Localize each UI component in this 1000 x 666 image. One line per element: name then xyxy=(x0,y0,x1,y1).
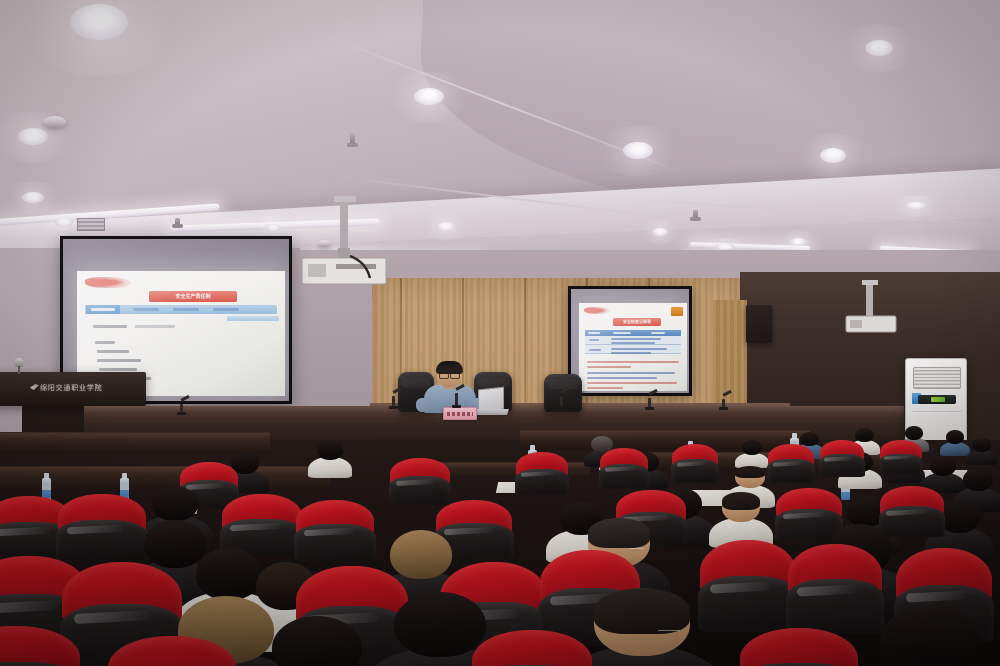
table-cell-text xyxy=(611,342,655,344)
attendee xyxy=(272,616,362,666)
slide-nav-label xyxy=(173,308,199,311)
table-cell-text xyxy=(589,349,601,351)
projection-screen-right[interactable]: 安全检查记录表 xyxy=(568,286,692,396)
name-placard xyxy=(443,407,477,420)
attendee xyxy=(880,606,980,666)
company-logo xyxy=(85,277,131,288)
slide-body-line xyxy=(93,325,127,328)
slide-note-line xyxy=(587,366,631,368)
desk-microphone xyxy=(455,393,458,406)
wall-speaker xyxy=(746,305,772,343)
table-header-label xyxy=(588,332,600,334)
auditorium-seat[interactable] xyxy=(788,544,882,632)
attendee xyxy=(963,468,993,502)
attendee xyxy=(946,430,964,450)
auditorium-seat[interactable] xyxy=(108,636,236,666)
slide-body-line xyxy=(97,359,141,362)
auditorium-seat[interactable] xyxy=(0,626,80,666)
auditorium-seat[interactable] xyxy=(296,500,374,560)
recessed-downlight xyxy=(437,222,455,231)
attendee xyxy=(722,492,760,536)
recessed-downlight xyxy=(865,40,893,56)
recessed-downlight xyxy=(265,224,281,232)
slide-title-bar: 安全生产责任制 xyxy=(149,291,237,302)
ceiling-projector xyxy=(840,280,910,350)
table-header-label xyxy=(613,332,631,334)
recessed-downlight xyxy=(18,128,48,145)
slide-title-bar: 安全检查记录表 xyxy=(613,318,661,326)
ceiling-air-vent xyxy=(77,218,105,231)
slide-body-line xyxy=(97,350,129,353)
slide-corner-badge xyxy=(671,307,683,316)
auditorium-seat[interactable] xyxy=(600,448,648,488)
slide-nav-label xyxy=(91,308,115,311)
recessed-downlight xyxy=(905,202,927,209)
recessed-downlight xyxy=(820,148,846,163)
slide-note-line xyxy=(587,382,677,384)
attendee xyxy=(742,440,762,462)
glasses-icon xyxy=(439,372,460,376)
attendee xyxy=(930,456,956,485)
auditorium-seat[interactable] xyxy=(58,494,146,560)
conference-hall-scene: 安全生产责任制 xyxy=(0,0,1000,666)
fire-sprinkler xyxy=(175,218,180,225)
slide-subbar xyxy=(227,316,279,321)
lectern-sign-text: 绵阳交通职业学院 xyxy=(40,383,102,393)
auditorium-seat[interactable] xyxy=(880,440,922,474)
slide-note-line xyxy=(587,372,675,374)
recessed-downlight xyxy=(22,192,44,203)
presenter-arm-left xyxy=(416,398,434,412)
recessed-downlight xyxy=(623,142,653,159)
desk-microphone xyxy=(392,396,395,407)
air-conditioner-display[interactable] xyxy=(918,395,956,404)
fire-sprinkler xyxy=(350,133,355,144)
auditorium-seat[interactable] xyxy=(820,440,864,476)
slide-note-line xyxy=(587,377,657,379)
company-logo xyxy=(584,307,610,314)
audience-desk-row xyxy=(520,430,810,450)
table-cell-text xyxy=(611,352,651,354)
auditorium-seat[interactable] xyxy=(516,452,568,494)
slide-note-line xyxy=(587,387,623,389)
attendee xyxy=(594,588,690,666)
air-conditioner-seam xyxy=(912,411,962,412)
slide-body-line xyxy=(95,341,115,344)
auditorium-seat[interactable] xyxy=(768,444,814,482)
smoke-detector xyxy=(43,116,66,128)
auditorium-seat[interactable] xyxy=(472,630,592,666)
slide-note-line xyxy=(587,361,679,363)
table-cell-text xyxy=(611,348,667,350)
attendee xyxy=(317,440,343,470)
desk-microphone xyxy=(180,404,183,413)
auditorium-seat[interactable] xyxy=(222,494,302,556)
auditorium-seat[interactable] xyxy=(390,458,450,504)
slide-nav-label xyxy=(133,308,159,311)
slide-body-line xyxy=(135,325,175,328)
recessed-downlight xyxy=(55,218,73,227)
recessed-downlight xyxy=(652,228,668,236)
desk-microphone xyxy=(648,398,651,408)
podium-microphone xyxy=(15,358,23,367)
audience-desk-row xyxy=(0,432,270,454)
slide-nav-label xyxy=(213,308,239,311)
table-cell-text xyxy=(611,338,661,340)
slide-right: 安全检查记录表 xyxy=(579,303,687,391)
auditorium-seat[interactable] xyxy=(740,628,858,666)
desk-microphone xyxy=(722,399,725,408)
recessed-downlight xyxy=(790,238,806,246)
table-header-label xyxy=(651,332,665,334)
fire-sprinkler xyxy=(693,210,698,218)
desk-microphone xyxy=(560,396,563,407)
recessed-downlight xyxy=(414,88,444,105)
air-conditioner-grille xyxy=(913,367,961,389)
recessed-downlight xyxy=(70,4,128,40)
auditorium-seat[interactable] xyxy=(672,444,718,482)
ceiling-projector xyxy=(300,196,396,306)
table-cell-text xyxy=(589,339,599,341)
slide-body-line xyxy=(99,368,137,371)
attendee xyxy=(972,438,991,459)
auditorium-seat[interactable] xyxy=(700,540,796,630)
